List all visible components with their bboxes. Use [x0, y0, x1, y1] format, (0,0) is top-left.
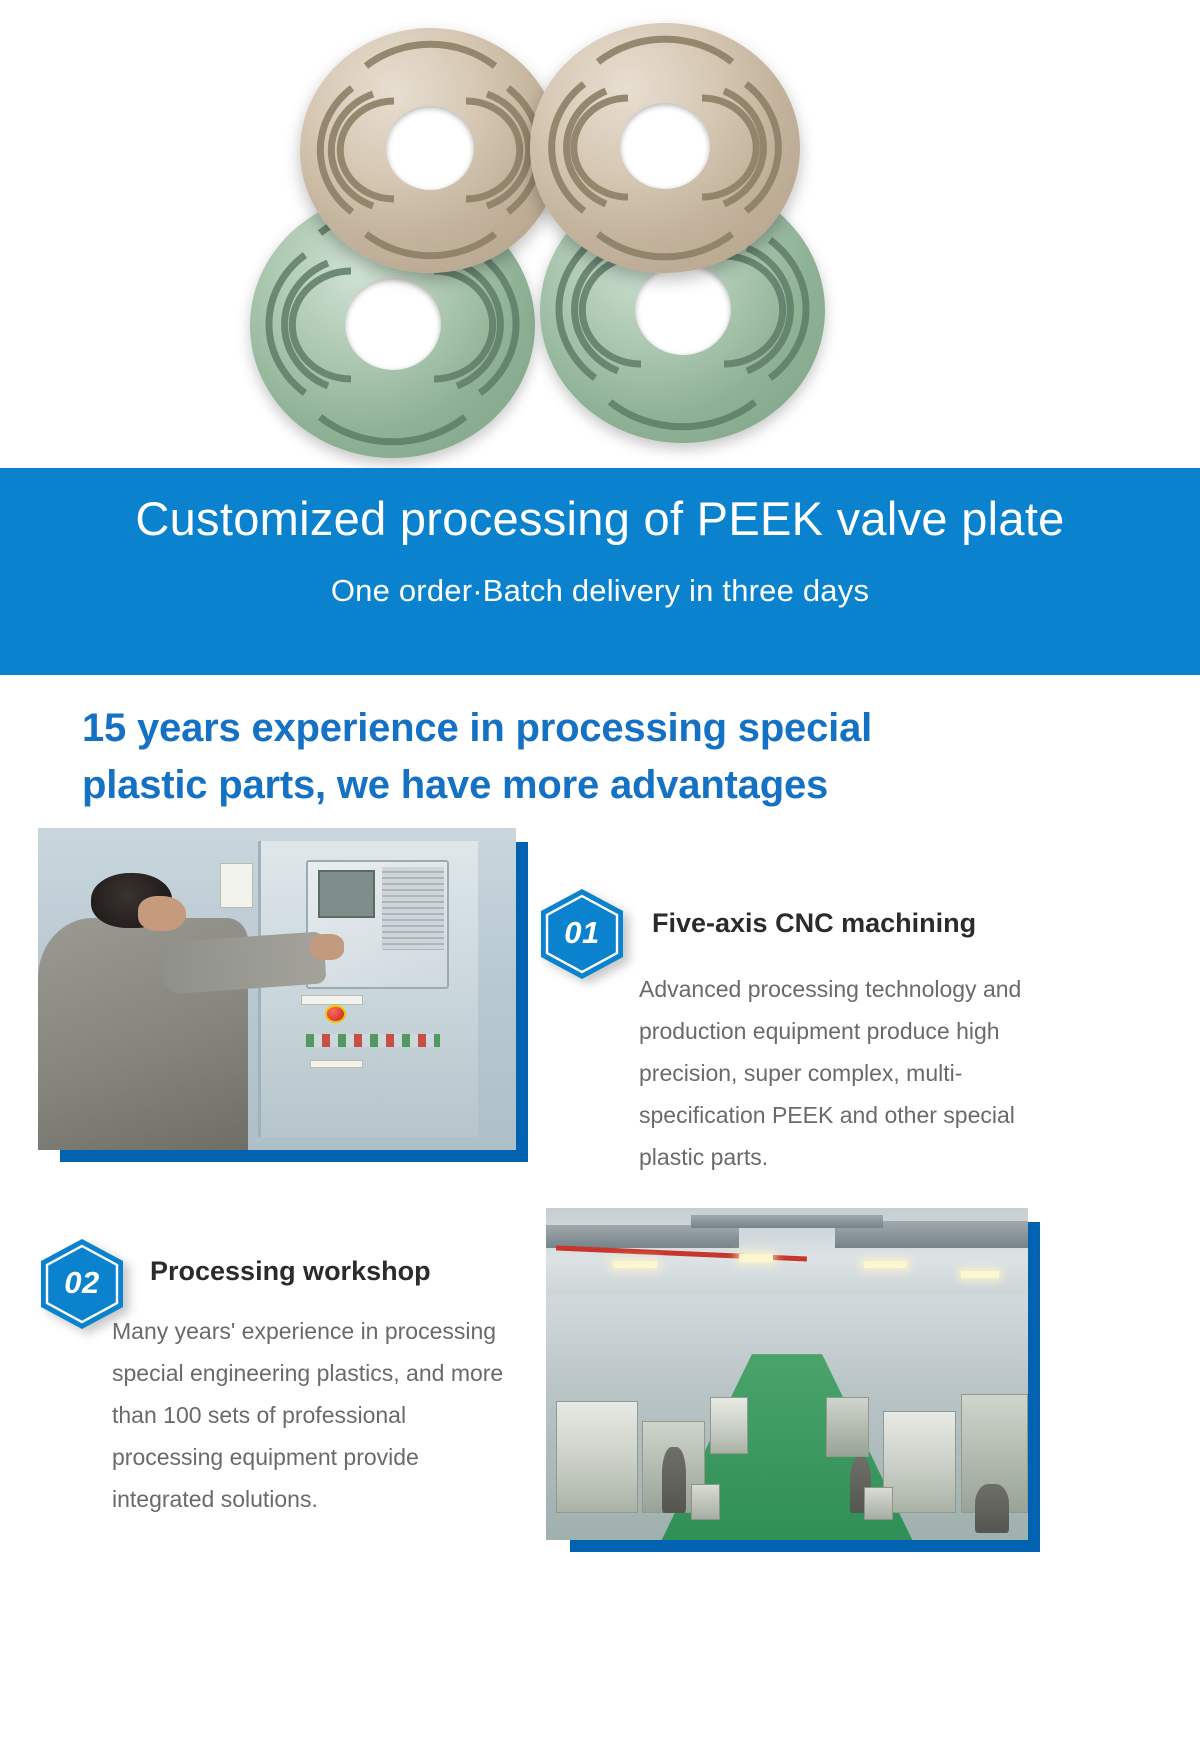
feature-body-01: Advanced processing technology and produ… [639, 968, 1063, 1178]
hero-product-photo [0, 0, 1200, 470]
cnc-machining-photo [38, 828, 526, 1148]
feature-badge-01-hexagon-icon: 01 [540, 888, 624, 980]
feature-badge-01-number: 01 [540, 888, 624, 980]
workshop-photo-scene [546, 1208, 1028, 1540]
photo-accent-bar-bottom [570, 1540, 1040, 1552]
feature-body-02: Many years' experience in processing spe… [112, 1310, 522, 1520]
feature-title-01: Five-axis CNC machining [652, 908, 976, 939]
workshop-photo-inner [546, 1208, 1028, 1540]
photo-accent-bar-right [516, 842, 528, 1162]
workshop-photo [546, 1208, 1038, 1538]
tan-valve-plate-right [530, 23, 800, 273]
product-detail-page: Customized processing of PEEK valve plat… [0, 0, 1200, 1758]
cnc-photo-inner [38, 828, 516, 1150]
photo-accent-bar-right [1028, 1222, 1040, 1552]
section-heading-line-1: 15 years experience in processing specia… [82, 700, 1082, 757]
tan-valve-plate-left [300, 28, 560, 273]
banner-subtitle: One order·Batch delivery in three days [0, 573, 1200, 609]
valve-plate-group [240, 18, 800, 458]
photo-accent-bar-bottom [60, 1150, 528, 1162]
section-heading-line-2: plastic parts, we have more advantages [82, 757, 1082, 814]
cnc-photo-scene [38, 828, 516, 1150]
banner-title: Customized processing of PEEK valve plat… [0, 492, 1200, 546]
feature-title-02: Processing workshop [150, 1256, 431, 1287]
hero-banner: Customized processing of PEEK valve plat… [0, 468, 1200, 675]
section-heading: 15 years experience in processing specia… [82, 700, 1082, 814]
